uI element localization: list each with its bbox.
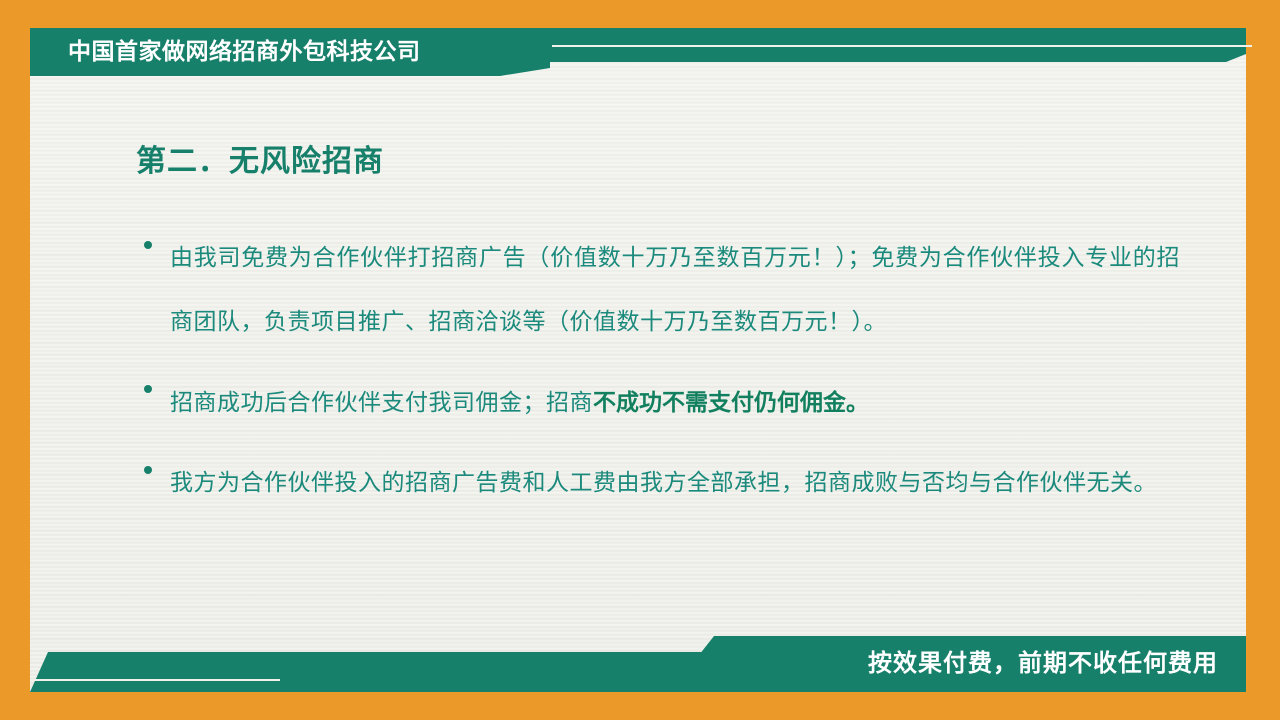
bullet-text-3-normal: 我方为合作伙伴投入的招商广告费和人工费由我方全部承担，招商成败与否均与合作伙伴无…: [170, 470, 1157, 496]
slide-title: 第二．无风险招商: [136, 136, 384, 180]
header-banner-hairline: [552, 45, 1252, 47]
bullet-text-2-normal: 招商成功后合作伙伴支付我司佣金；招商: [170, 390, 593, 416]
footer-banner-thin-band: [30, 652, 730, 692]
list-item: 我方为合作伙伴投入的招商广告费和人工费由我方全部承担，招商成败与否均与合作伙伴无…: [140, 451, 1180, 515]
bullet-text-1-normal: 由我司免费为合作伙伴打招商广告（价值数十万乃至数百万元！）；免费为合作伙伴投入专…: [170, 245, 1180, 335]
header-banner-text: 中国首家做网络招商外包科技公司: [68, 28, 421, 76]
bullet-text-3: 我方为合作伙伴投入的招商广告费和人工费由我方全部承担，招商成败与否均与合作伙伴无…: [170, 451, 1180, 515]
presentation-slide: 中国首家做网络招商外包科技公司 第二．无风险招商 由我司免费为合作伙伴打招商广告…: [0, 0, 1280, 720]
bullet-dot-icon: [144, 241, 152, 249]
bullet-dot-icon: [144, 466, 152, 474]
header-banner: 中国首家做网络招商外包科技公司: [30, 28, 1246, 76]
bullet-text-1: 由我司免费为合作伙伴打招商广告（价值数十万乃至数百万元！）；免费为合作伙伴投入专…: [170, 226, 1180, 354]
list-item: 由我司免费为合作伙伴打招商广告（价值数十万乃至数百万元！）；免费为合作伙伴投入专…: [140, 226, 1180, 354]
footer-banner-hairline: [30, 679, 280, 681]
footer-banner-thick-band: 按效果付费，前期不收任何费用: [670, 636, 1246, 692]
bullet-dot-icon: [144, 385, 152, 393]
footer-banner-text: 按效果付费，前期不收任何费用: [868, 636, 1218, 692]
footer-banner: 按效果付费，前期不收任何费用: [30, 636, 1246, 692]
bullet-text-2-emphasis: 不成功不需支付仍何佣金。: [593, 389, 869, 415]
list-item: 招商成功后合作伙伴支付我司佣金；招商不成功不需支付仍何佣金。: [140, 370, 1180, 435]
bullet-list: 由我司免费为合作伙伴打招商广告（价值数十万乃至数百万元！）；免费为合作伙伴投入专…: [140, 226, 1180, 531]
bullet-text-2: 招商成功后合作伙伴支付我司佣金；招商不成功不需支付仍何佣金。: [170, 370, 1180, 435]
